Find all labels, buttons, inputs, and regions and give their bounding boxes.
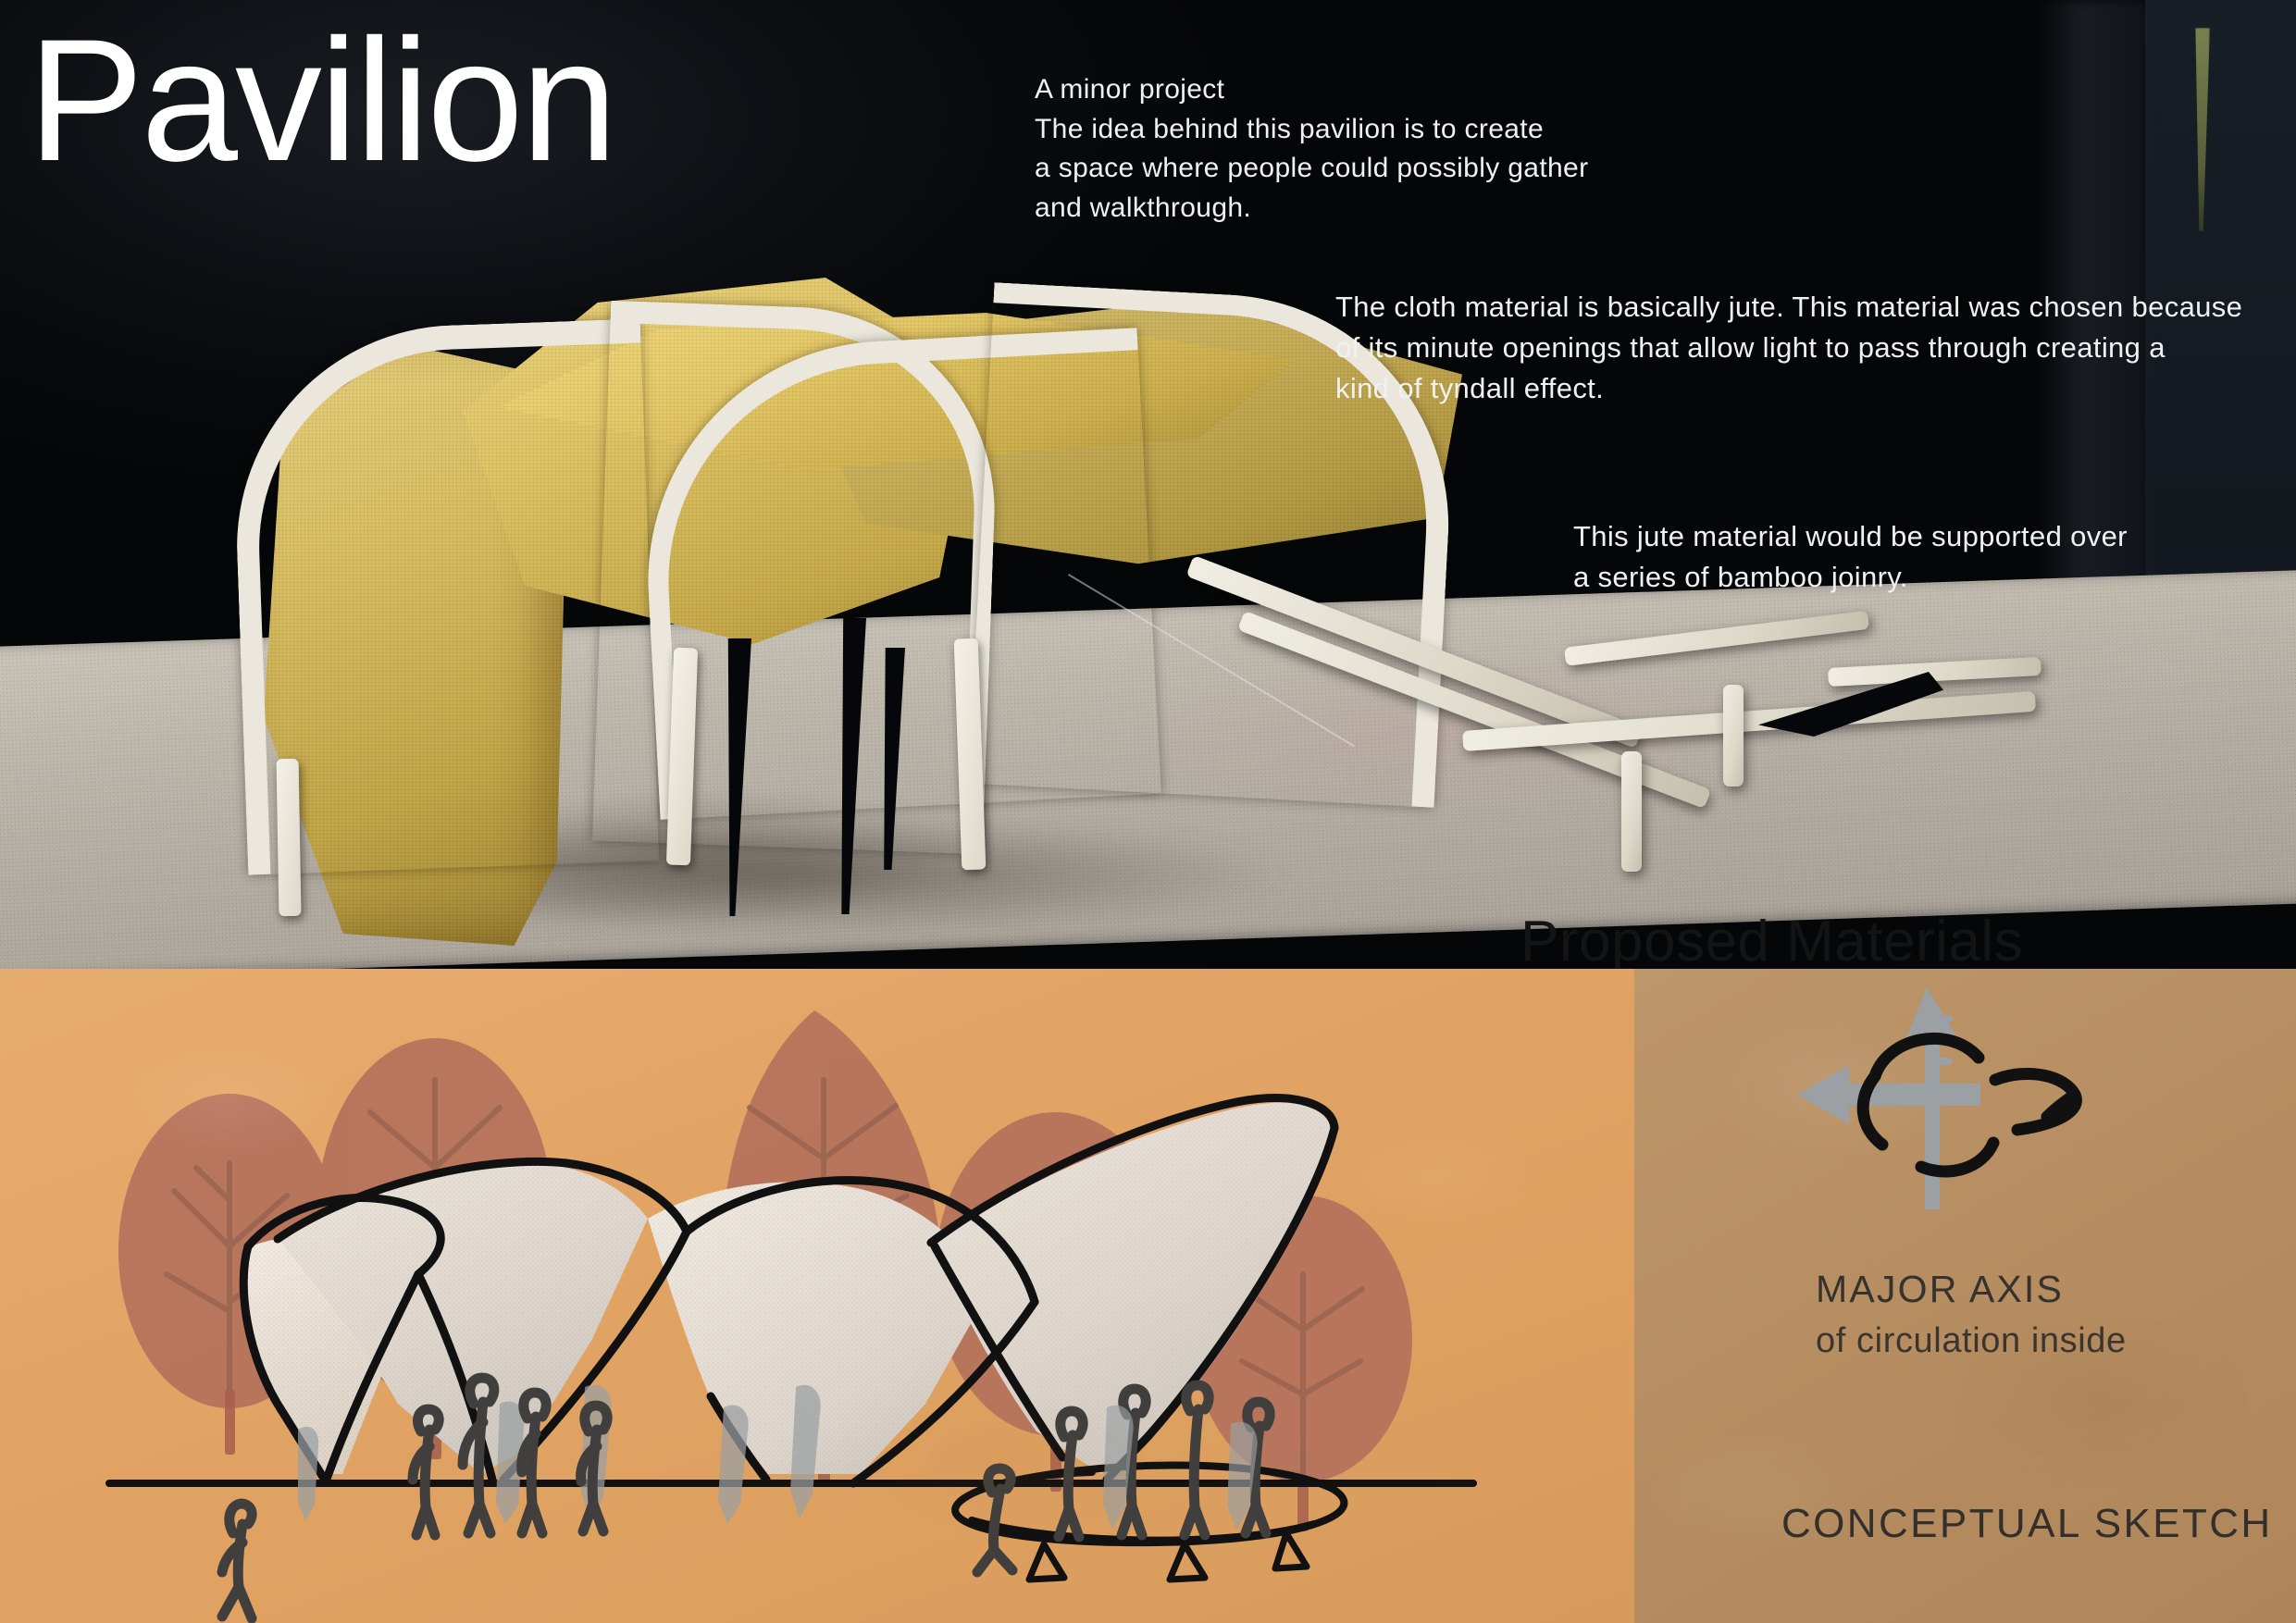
major-axis-label: MAJOR AXIS: [1816, 1268, 2064, 1311]
axis-arrow-left: [1797, 1065, 1980, 1124]
conceptual-sketch-label: CONCEPTUAL SKETCH: [1781, 1501, 2273, 1547]
figure-shadow-right: [1103, 1406, 1258, 1530]
conceptual-sketch-panel: [0, 969, 1634, 1623]
model-beam-post-b: [1723, 685, 1744, 787]
canopy-fabric-centre-right: [648, 1182, 988, 1474]
canopy-fabric-right: [935, 1103, 1333, 1474]
major-axis-arrows-icon: [1786, 976, 2101, 1217]
tree-blob-4: [935, 1112, 1175, 1436]
tree-layer: [0, 969, 1634, 1623]
canopy-fabric-centre-left: [278, 1163, 648, 1474]
figures-foreground: [222, 1378, 1270, 1618]
model-leg-3: [277, 759, 302, 916]
model-beam-deck-a: [1564, 611, 1869, 666]
tensile-canopy-sketch: [0, 969, 1634, 1623]
human-figure-layer: [0, 969, 1634, 1623]
major-axis-sublabel: of circulation inside: [1816, 1321, 2127, 1361]
presentation-board: Pavilion A minor project The idea behind…: [0, 0, 2296, 1623]
canopy-ink-outline: [243, 1098, 1334, 1483]
tree-blob-5: [1194, 1196, 1412, 1482]
tree-trunks: [225, 1390, 1309, 1531]
circulation-oval-sketch: [955, 1466, 1344, 1543]
bamboo-support-paragraph: This jute material would be supported ov…: [1573, 516, 2128, 598]
tree-blob-2: [316, 1038, 553, 1399]
model-photograph: Pavilion A minor project The idea behind…: [0, 0, 2296, 969]
major-axis-diagram: [1786, 976, 2101, 1217]
tree-branches: [167, 1080, 1362, 1482]
canopy-fabric-left: [244, 1233, 421, 1474]
proposed-materials-caption: Proposed Materials: [1520, 909, 2023, 969]
cloth-material-paragraph: The cloth material is basically jute. Th…: [1335, 287, 2242, 409]
model-beam-post-a: [1621, 751, 1642, 872]
page-title: Pavilion: [28, 20, 614, 180]
tree-blob-1: [118, 1094, 341, 1408]
bench-marks: [1029, 1533, 1307, 1580]
intro-paragraph: A minor project The idea behind this pav…: [1035, 70, 1588, 228]
figure-shadows: [298, 1385, 821, 1524]
tree-blob-3: [722, 1010, 942, 1418]
